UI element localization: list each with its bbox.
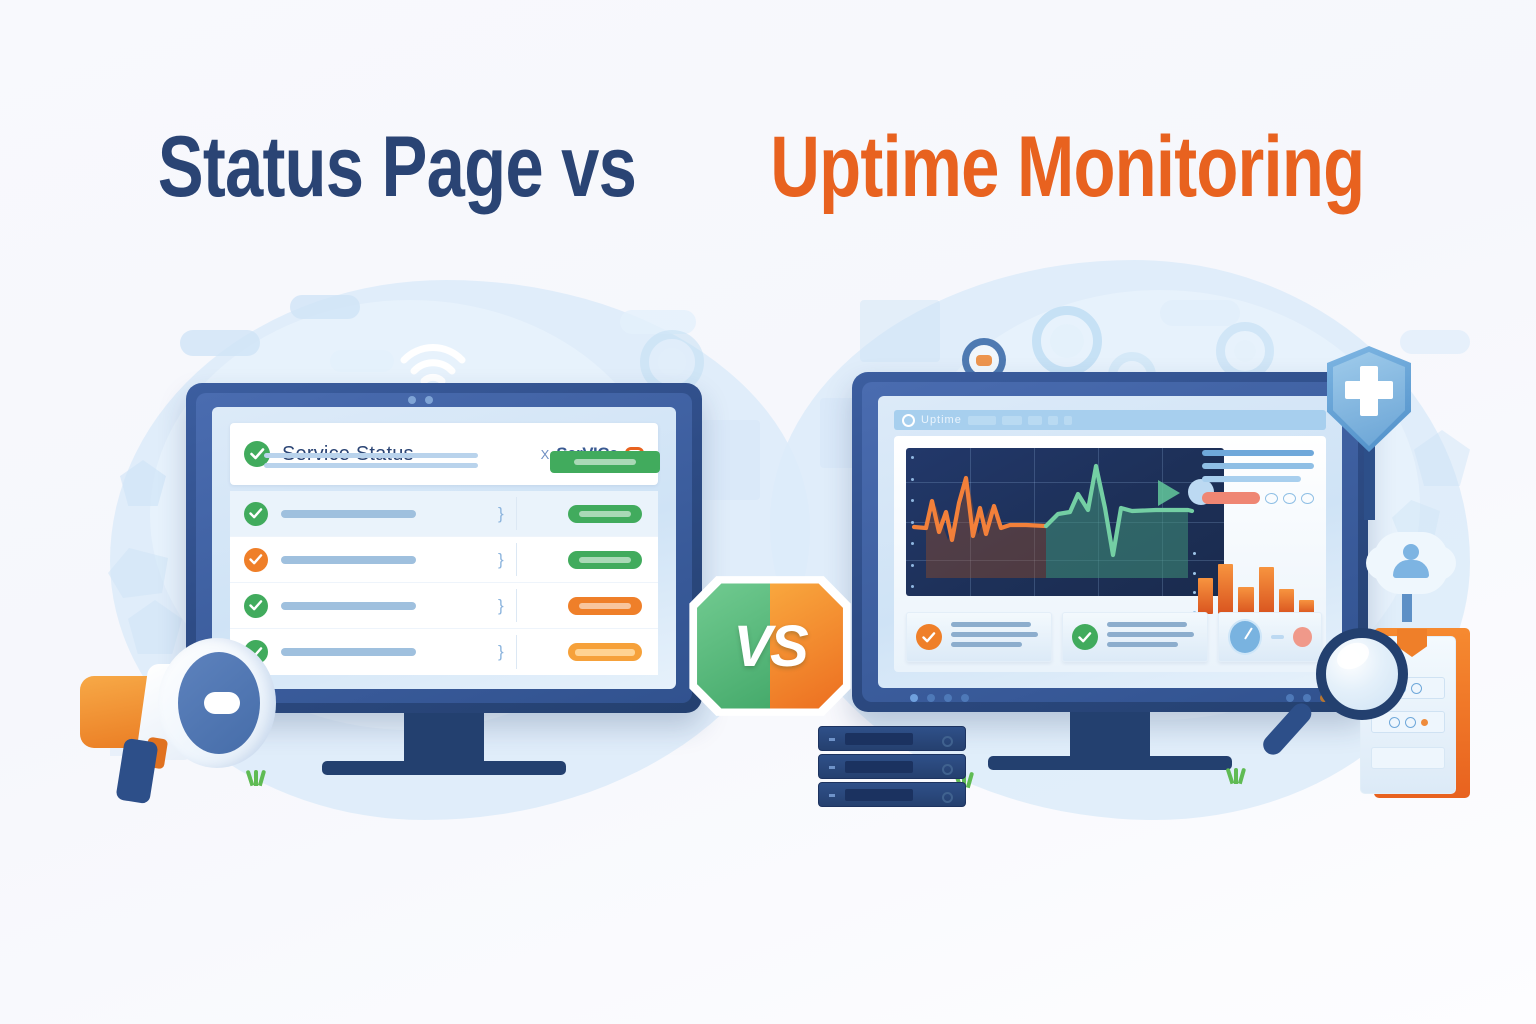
check-circle-orange-icon [916, 624, 942, 650]
row-bracket-glyph: } [498, 596, 504, 616]
table-row[interactable]: } [230, 491, 658, 537]
status-badge[interactable] [568, 643, 642, 661]
uptime-monitoring-monitor: Uptime [852, 372, 1368, 712]
row-label-placeholder [281, 602, 416, 610]
cloud-icon [290, 295, 360, 319]
table-row[interactable]: } [230, 537, 658, 583]
status-card-lines [1107, 622, 1198, 652]
magnifier-lens [1316, 628, 1408, 720]
status-badge-label [575, 649, 635, 656]
monitor-base [322, 761, 566, 775]
header-status-badge[interactable] [550, 451, 660, 473]
monitor-base [988, 756, 1232, 770]
topbar-placeholder [1028, 416, 1042, 425]
row-label-placeholder [281, 510, 416, 518]
row-bracket-glyph: } [498, 642, 504, 662]
check-circle-green-icon [244, 502, 268, 526]
status-dot-icon [902, 414, 915, 427]
uptime-dashboard-screen: Uptime [878, 396, 1342, 688]
status-card[interactable] [1062, 612, 1208, 662]
chart-series-paths [906, 448, 1224, 596]
topbar-placeholder [1048, 416, 1058, 425]
shield-health-icon [1327, 346, 1411, 452]
brand-prefix: X [541, 447, 550, 462]
user-body-icon [1393, 560, 1429, 578]
ring-icon [1301, 493, 1314, 504]
row-bracket-glyph: } [498, 504, 504, 524]
vs-badge: VS [686, 570, 854, 722]
monitor-neck [404, 713, 484, 765]
cloud-icon [180, 330, 260, 356]
header-status-badge-label [574, 459, 636, 465]
cloud-icon [620, 310, 696, 334]
status-badge[interactable] [568, 505, 642, 523]
bezel-camera-dots [408, 396, 433, 404]
server-stack-icon [818, 726, 966, 808]
page-title-primary: Status Page vs [158, 118, 636, 217]
alert-bar [1202, 492, 1260, 504]
table-row[interactable]: } [230, 583, 658, 629]
check-circle-orange-icon [244, 548, 268, 572]
bar-chart-y-ticks [1193, 552, 1196, 614]
play-icon[interactable] [1158, 480, 1180, 506]
dashboard-topbar-label: Uptime [921, 414, 962, 426]
ring-icon [1265, 493, 1278, 504]
speed-gauge-icon [1228, 619, 1262, 655]
check-circle-green-icon [244, 594, 268, 618]
topbar-placeholder [1002, 416, 1022, 425]
summary-lines [1202, 450, 1314, 489]
topbar-placeholder [1064, 416, 1072, 425]
alert-summary-row [1202, 492, 1314, 504]
status-card-lines [951, 622, 1042, 652]
decor-shape [860, 300, 940, 362]
header-placeholder-lines [264, 453, 478, 473]
status-badge-label [579, 557, 631, 563]
user-head-icon [1403, 544, 1419, 560]
topbar-placeholder [968, 416, 996, 425]
page-title-accent: Uptime Monitoring [770, 118, 1364, 217]
dashboard-content-card [894, 436, 1326, 672]
cloud-icon [330, 350, 394, 372]
megaphone-icon [62, 636, 302, 806]
response-time-chart [906, 448, 1224, 596]
ring-icon [1283, 493, 1296, 504]
page-title: Status Page vs Uptime Monitoring [0, 118, 1536, 217]
cross-icon [1345, 381, 1393, 399]
row-divider [516, 543, 517, 576]
monitor-neck [1070, 712, 1150, 760]
row-divider [516, 497, 517, 530]
status-badge[interactable] [568, 551, 642, 569]
bar-chart [1198, 552, 1314, 614]
row-label-placeholder [281, 556, 416, 564]
status-badge[interactable] [568, 597, 642, 615]
row-bracket-glyph: } [498, 550, 504, 570]
row-divider [516, 589, 517, 622]
connector-icon [1271, 635, 1284, 639]
decor-shape [700, 420, 760, 500]
illustration-canvas: Status Page vs Uptime Monitoring [0, 0, 1536, 1024]
cloud-icon [1160, 300, 1240, 326]
user-cloud-icon [1374, 532, 1448, 594]
status-card[interactable] [906, 612, 1052, 662]
gear-icon [1032, 306, 1102, 376]
status-badge-label [579, 511, 631, 517]
row-divider [516, 635, 517, 669]
vs-badge-label: VS [686, 570, 854, 722]
dashboard-topbar: Uptime [894, 410, 1326, 430]
bezel-indicator-dots [910, 694, 969, 702]
status-badge-label [579, 603, 631, 609]
check-circle-green-icon [1072, 624, 1098, 650]
megaphone-knob [204, 692, 240, 714]
magnifier-icon [1292, 620, 1422, 770]
